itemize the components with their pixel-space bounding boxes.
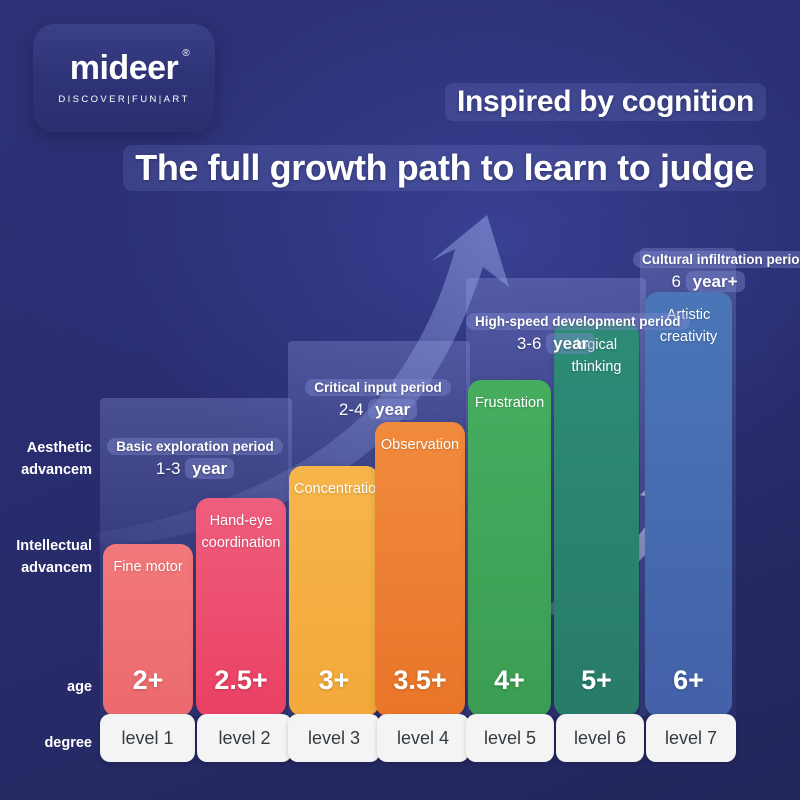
bar-level-4[interactable]: Observation3.5+ [375, 422, 465, 716]
period-name: Basic exploration period [107, 438, 283, 455]
level-plinth-1[interactable]: level 1 [100, 714, 195, 762]
period-age-unit: year [185, 458, 234, 479]
bar-level-3[interactable]: Concentration3+ [289, 466, 379, 716]
level-label: level 5 [484, 728, 536, 749]
period-name: Critical input period [305, 379, 451, 396]
bar-age-value: 5+ [554, 665, 639, 696]
period-badge-2: Critical input period2-4 year [288, 379, 468, 420]
period-age-range: 1-3 year [104, 459, 286, 479]
period-age-unit: year [368, 399, 417, 420]
bar-skill-label: Fine motor [103, 557, 193, 579]
bar-skill-label: Frustration [468, 393, 551, 415]
bar-level-6[interactable]: logical thinking5+ [554, 322, 639, 716]
period-age-unit: year [546, 333, 595, 354]
bar-age-value: 2+ [103, 665, 193, 696]
growth-path-chart: Fine motor2+Hand-eye coordination2.5+Con… [0, 0, 800, 800]
period-name: High-speed development period [466, 313, 690, 330]
level-plinth-2[interactable]: level 2 [197, 714, 292, 762]
bar-skill-label: Concentration [289, 479, 379, 501]
level-label: level 6 [574, 728, 626, 749]
period-name: Cultural infiltration period [633, 251, 800, 268]
level-label: level 2 [218, 728, 270, 749]
infographic-canvas: mideer® DISCOVER|FUN|ART Inspired by cog… [0, 0, 800, 800]
period-age-unit: year+ [686, 271, 745, 292]
level-plinth-6[interactable]: level 6 [556, 714, 644, 762]
bar-age-value: 6+ [645, 665, 732, 696]
bar-age-value: 4+ [468, 665, 551, 696]
bar-age-value: 2.5+ [196, 665, 286, 696]
bar-level-1[interactable]: Fine motor2+ [103, 544, 193, 716]
bar-skill-label: Observation [375, 435, 465, 457]
period-badge-4: Cultural infiltration period6 year+ [633, 251, 783, 292]
period-badge-3: High-speed development period3-6 year [466, 313, 646, 354]
level-plinth-4[interactable]: level 4 [377, 714, 469, 762]
level-label: level 7 [665, 728, 717, 749]
level-label: level 1 [121, 728, 173, 749]
period-age-range: 6 year+ [633, 272, 783, 292]
bar-level-2[interactable]: Hand-eye coordination2.5+ [196, 498, 286, 716]
period-age-range: 3-6 year [466, 334, 646, 354]
bar-age-value: 3.5+ [375, 665, 465, 696]
bar-skill-label: Hand-eye coordination [196, 511, 286, 555]
bar-age-value: 3+ [289, 665, 379, 696]
period-age-range: 2-4 year [288, 400, 468, 420]
bar-level-7[interactable]: Artistic creativity6+ [645, 292, 732, 716]
level-plinth-5[interactable]: level 5 [466, 714, 554, 762]
level-plinth-3[interactable]: level 3 [288, 714, 380, 762]
level-plinth-7[interactable]: level 7 [646, 714, 736, 762]
bar-level-5[interactable]: Frustration4+ [468, 380, 551, 716]
level-label: level 4 [397, 728, 449, 749]
level-label: level 3 [308, 728, 360, 749]
period-badge-1: Basic exploration period1-3 year [104, 438, 286, 479]
